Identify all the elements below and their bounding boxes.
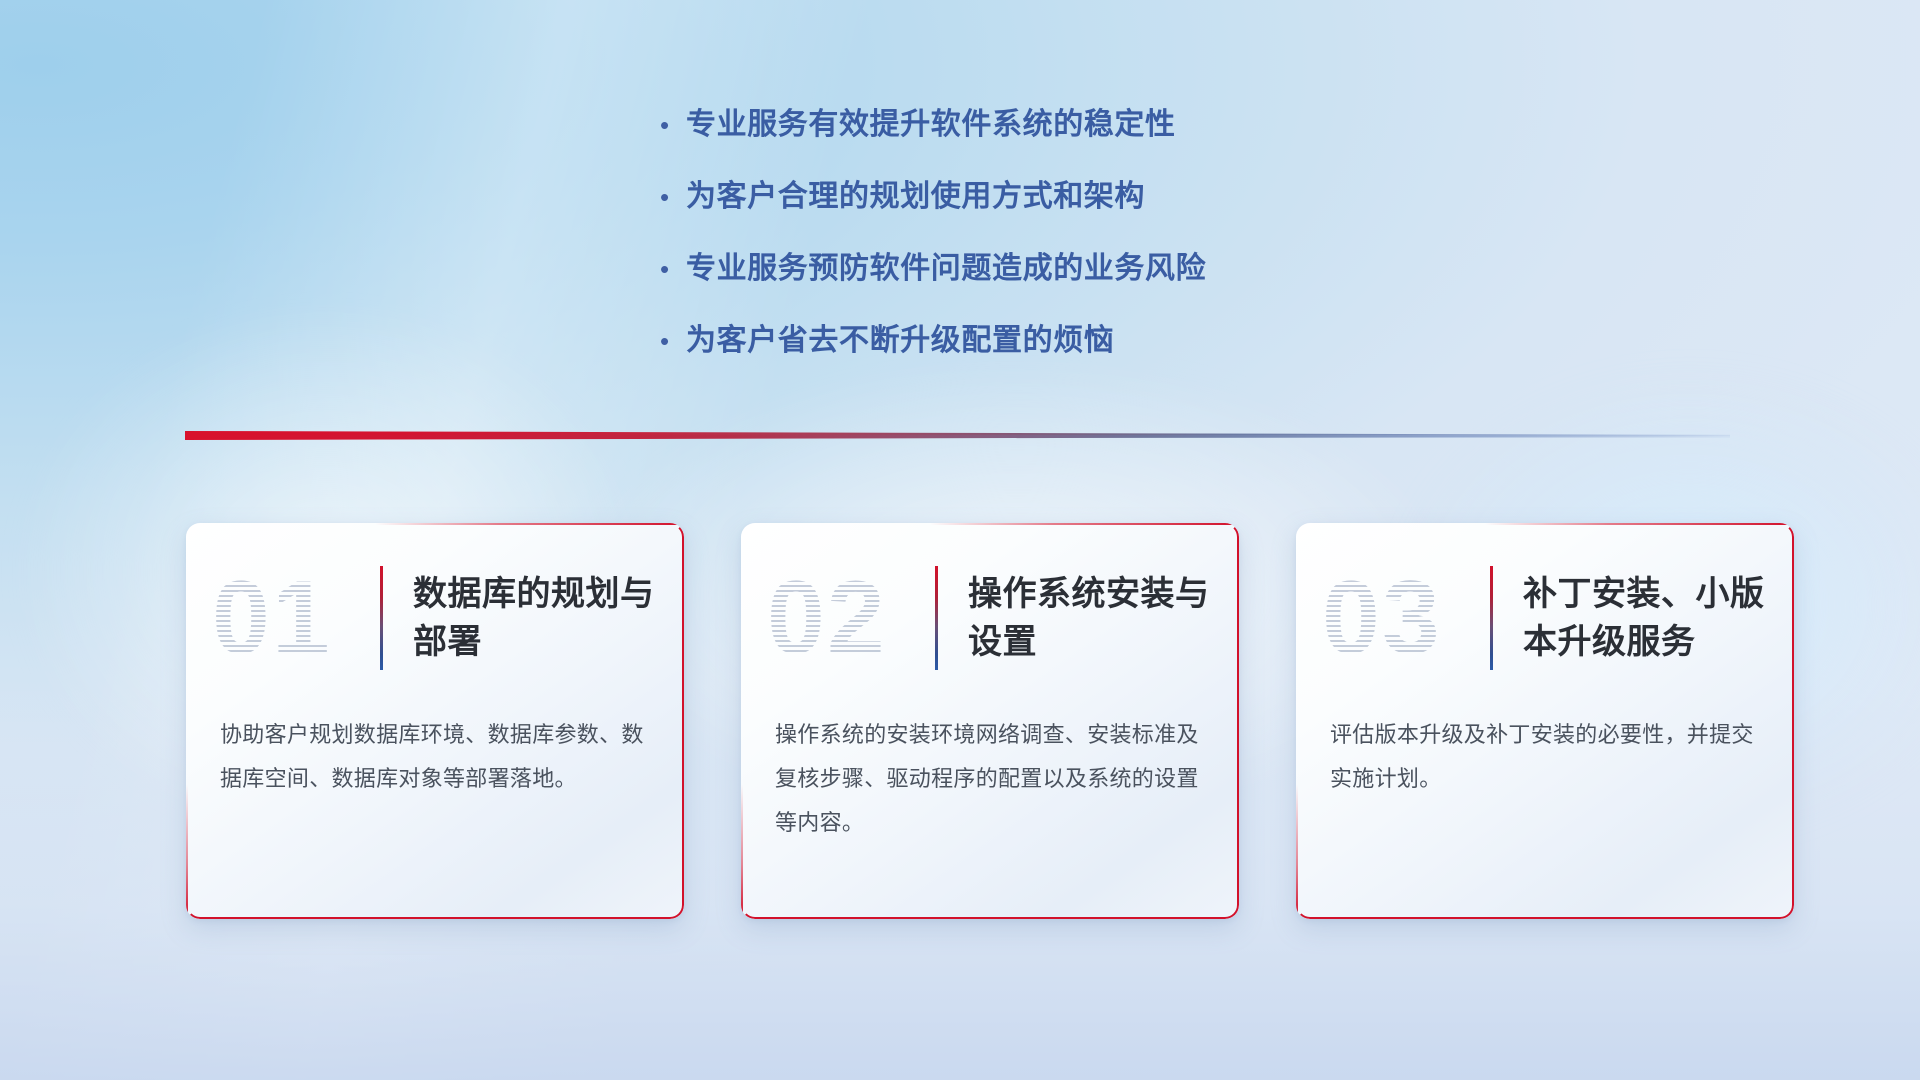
card-number-watermark: 01 xyxy=(212,556,380,680)
divider-hairline xyxy=(185,435,1730,438)
card-number-watermark: 02 xyxy=(767,556,935,680)
card-header: 02 操作系统安装与设置 xyxy=(741,523,1239,713)
bullet-item: • 专业服务有效提升软件系统的稳定性 xyxy=(660,104,1480,146)
bullet-item: • 专业服务预防软件问题造成的业务风险 xyxy=(660,248,1480,290)
card-accent-border-left xyxy=(186,784,188,919)
card-number-label: 03 xyxy=(1322,560,1442,676)
card-title-rule xyxy=(1490,566,1493,670)
bullet-dot-icon: • xyxy=(660,320,686,362)
bullet-dot-icon: • xyxy=(660,176,686,218)
bullet-item: • 为客户省去不断升级配置的烦恼 xyxy=(660,320,1480,362)
card-title: 操作系统安装与设置 xyxy=(968,570,1218,666)
bullet-list: • 专业服务有效提升软件系统的稳定性 • 为客户合理的规划使用方式和架构 • 专… xyxy=(660,104,1480,392)
bullet-item-label: 为客户合理的规划使用方式和架构 xyxy=(686,176,1145,218)
section-divider xyxy=(185,424,1730,446)
bullet-item-label: 专业服务有效提升软件系统的稳定性 xyxy=(686,104,1176,146)
card-accent-border-left xyxy=(1296,784,1298,919)
card-header: 01 数据库的规划与部署 xyxy=(186,523,684,713)
card-title: 补丁安装、小版本升级服务 xyxy=(1523,570,1773,666)
card-body-text: 评估版本升级及补丁安装的必要性，并提交实施计划。 xyxy=(1296,713,1794,801)
card-number-watermark: 03 xyxy=(1322,556,1490,680)
card-number-label: 02 xyxy=(767,560,887,676)
service-card-list: 01 数据库的规划与部署 协助客户规划数据库环境、数据库参数、数据库空间、数据库… xyxy=(186,523,1794,919)
bullet-item: • 为客户合理的规划使用方式和架构 xyxy=(660,176,1480,218)
service-card[interactable]: 03 补丁安装、小版本升级服务 评估版本升级及补丁安装的必要性，并提交实施计划。 xyxy=(1296,523,1794,919)
card-title: 数据库的规划与部署 xyxy=(413,570,663,666)
bullet-dot-icon: • xyxy=(660,248,686,290)
service-card[interactable]: 01 数据库的规划与部署 协助客户规划数据库环境、数据库参数、数据库空间、数据库… xyxy=(186,523,684,919)
card-number-label: 01 xyxy=(212,560,332,676)
card-body-text: 协助客户规划数据库环境、数据库参数、数据库空间、数据库对象等部署落地。 xyxy=(186,713,684,801)
card-title-rule xyxy=(935,566,938,670)
bullet-dot-icon: • xyxy=(660,104,686,146)
bullet-item-label: 专业服务预防软件问题造成的业务风险 xyxy=(686,248,1206,290)
card-body-text: 操作系统的安装环境网络调查、安装标准及复核步骤、驱动程序的配置以及系统的设置等内… xyxy=(741,713,1239,845)
bullet-item-label: 为客户省去不断升级配置的烦恼 xyxy=(686,320,1114,362)
card-title-rule xyxy=(380,566,383,670)
card-header: 03 补丁安装、小版本升级服务 xyxy=(1296,523,1794,713)
service-card[interactable]: 02 操作系统安装与设置 操作系统的安装环境网络调查、安装标准及复核步骤、驱动程… xyxy=(741,523,1239,919)
